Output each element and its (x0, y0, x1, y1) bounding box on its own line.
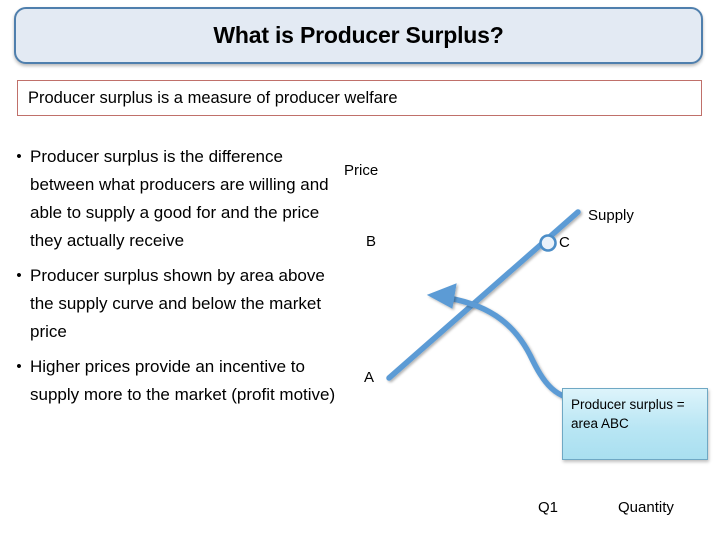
supply-curve-label: Supply (588, 207, 634, 224)
bullet-dot-icon: • (8, 143, 30, 171)
slide-title-box: What is Producer Surplus? (14, 7, 703, 64)
list-item: • Higher prices provide an incentive to … (8, 353, 343, 409)
slide-subtitle-box: Producer surplus is a measure of produce… (17, 80, 702, 116)
list-item-text: Producer surplus is the difference betwe… (30, 143, 343, 255)
list-item-text: Producer surplus shown by area above the… (30, 262, 343, 346)
slide-subtitle: Producer surplus is a measure of produce… (18, 89, 398, 108)
point-label-c: C (559, 234, 570, 251)
price-tick-label-b: B (366, 233, 376, 250)
price-tick-label-a: A (364, 369, 374, 386)
callout-box: Producer surplus = area ABC (562, 388, 708, 460)
equilibrium-point-marker (541, 236, 556, 251)
list-item-text: Higher prices provide an incentive to su… (30, 353, 343, 409)
diagram-canvas (340, 150, 717, 536)
list-item: • Producer surplus is the difference bet… (8, 143, 343, 255)
pointer-arrow-icon (448, 298, 589, 400)
bullet-dot-icon: • (8, 353, 30, 381)
y-axis-label: Price (344, 162, 378, 179)
producer-surplus-diagram: Price B A C Supply Q1 Quantity Producer … (340, 150, 717, 536)
bullet-dot-icon: • (8, 262, 30, 290)
page-title: What is Producer Surplus? (213, 22, 503, 49)
list-item: • Producer surplus shown by area above t… (8, 262, 343, 346)
callout-text: Producer surplus = area ABC (571, 395, 699, 433)
quantity-tick-label-q1: Q1 (538, 499, 558, 516)
x-axis-label: Quantity (618, 499, 674, 516)
bullet-list: • Producer surplus is the difference bet… (8, 143, 343, 416)
pointer-arrowhead-icon (428, 284, 456, 308)
